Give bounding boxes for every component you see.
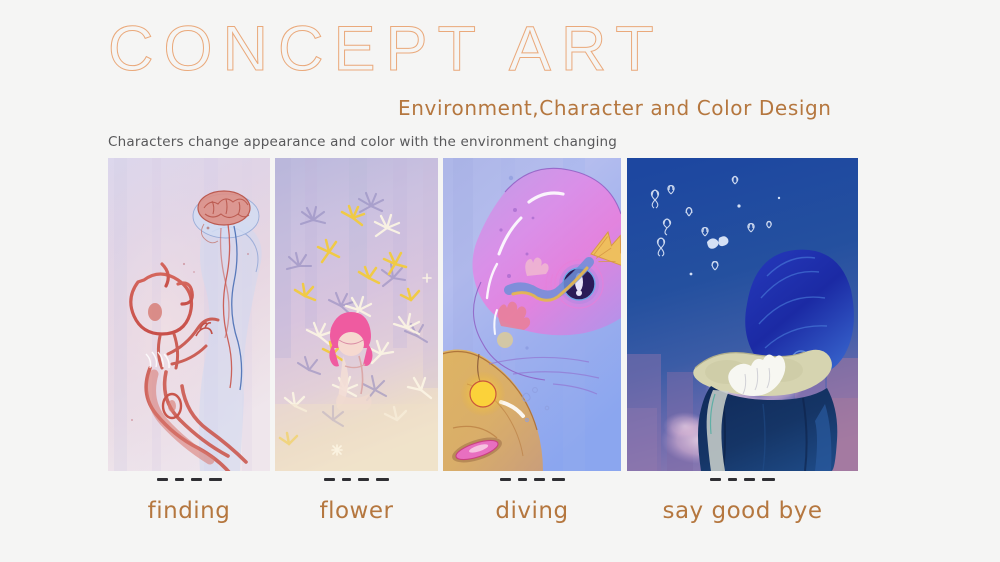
panel-label-finding: finding — [108, 498, 270, 524]
slide-subtitle: Environment,Character and Color Design — [398, 96, 832, 120]
artwork-image-say-good-bye — [627, 158, 858, 471]
slide-caption: Characters change appearance and color w… — [108, 134, 617, 150]
artwork-image-diving — [443, 158, 621, 471]
artwork-panel-flower[interactable] — [275, 158, 438, 471]
divider-dashes-diving — [443, 472, 621, 486]
artwork-gallery — [0, 158, 1000, 471]
divider-dashes-flower — [275, 472, 438, 486]
artwork-panel-finding[interactable] — [108, 158, 270, 471]
artwork-image-finding — [108, 158, 270, 471]
page-title: CONCEPT ART — [108, 18, 664, 81]
panel-caption-finding: finding — [108, 472, 270, 524]
panel-caption-say-good-bye: say good bye — [627, 472, 858, 524]
panel-label-diving: diving — [443, 498, 621, 524]
panel-caption-diving: diving — [443, 472, 621, 524]
divider-dashes-finding — [108, 472, 270, 486]
artwork-image-flower — [275, 158, 438, 471]
panel-label-say-good-bye: say good bye — [627, 498, 858, 524]
divider-dashes-say-good-bye — [627, 472, 858, 486]
panel-caption-flower: flower — [275, 472, 438, 524]
artwork-panel-say-good-bye[interactable] — [627, 158, 858, 471]
artwork-panel-diving[interactable] — [443, 158, 621, 471]
panel-label-flower: flower — [275, 498, 438, 524]
